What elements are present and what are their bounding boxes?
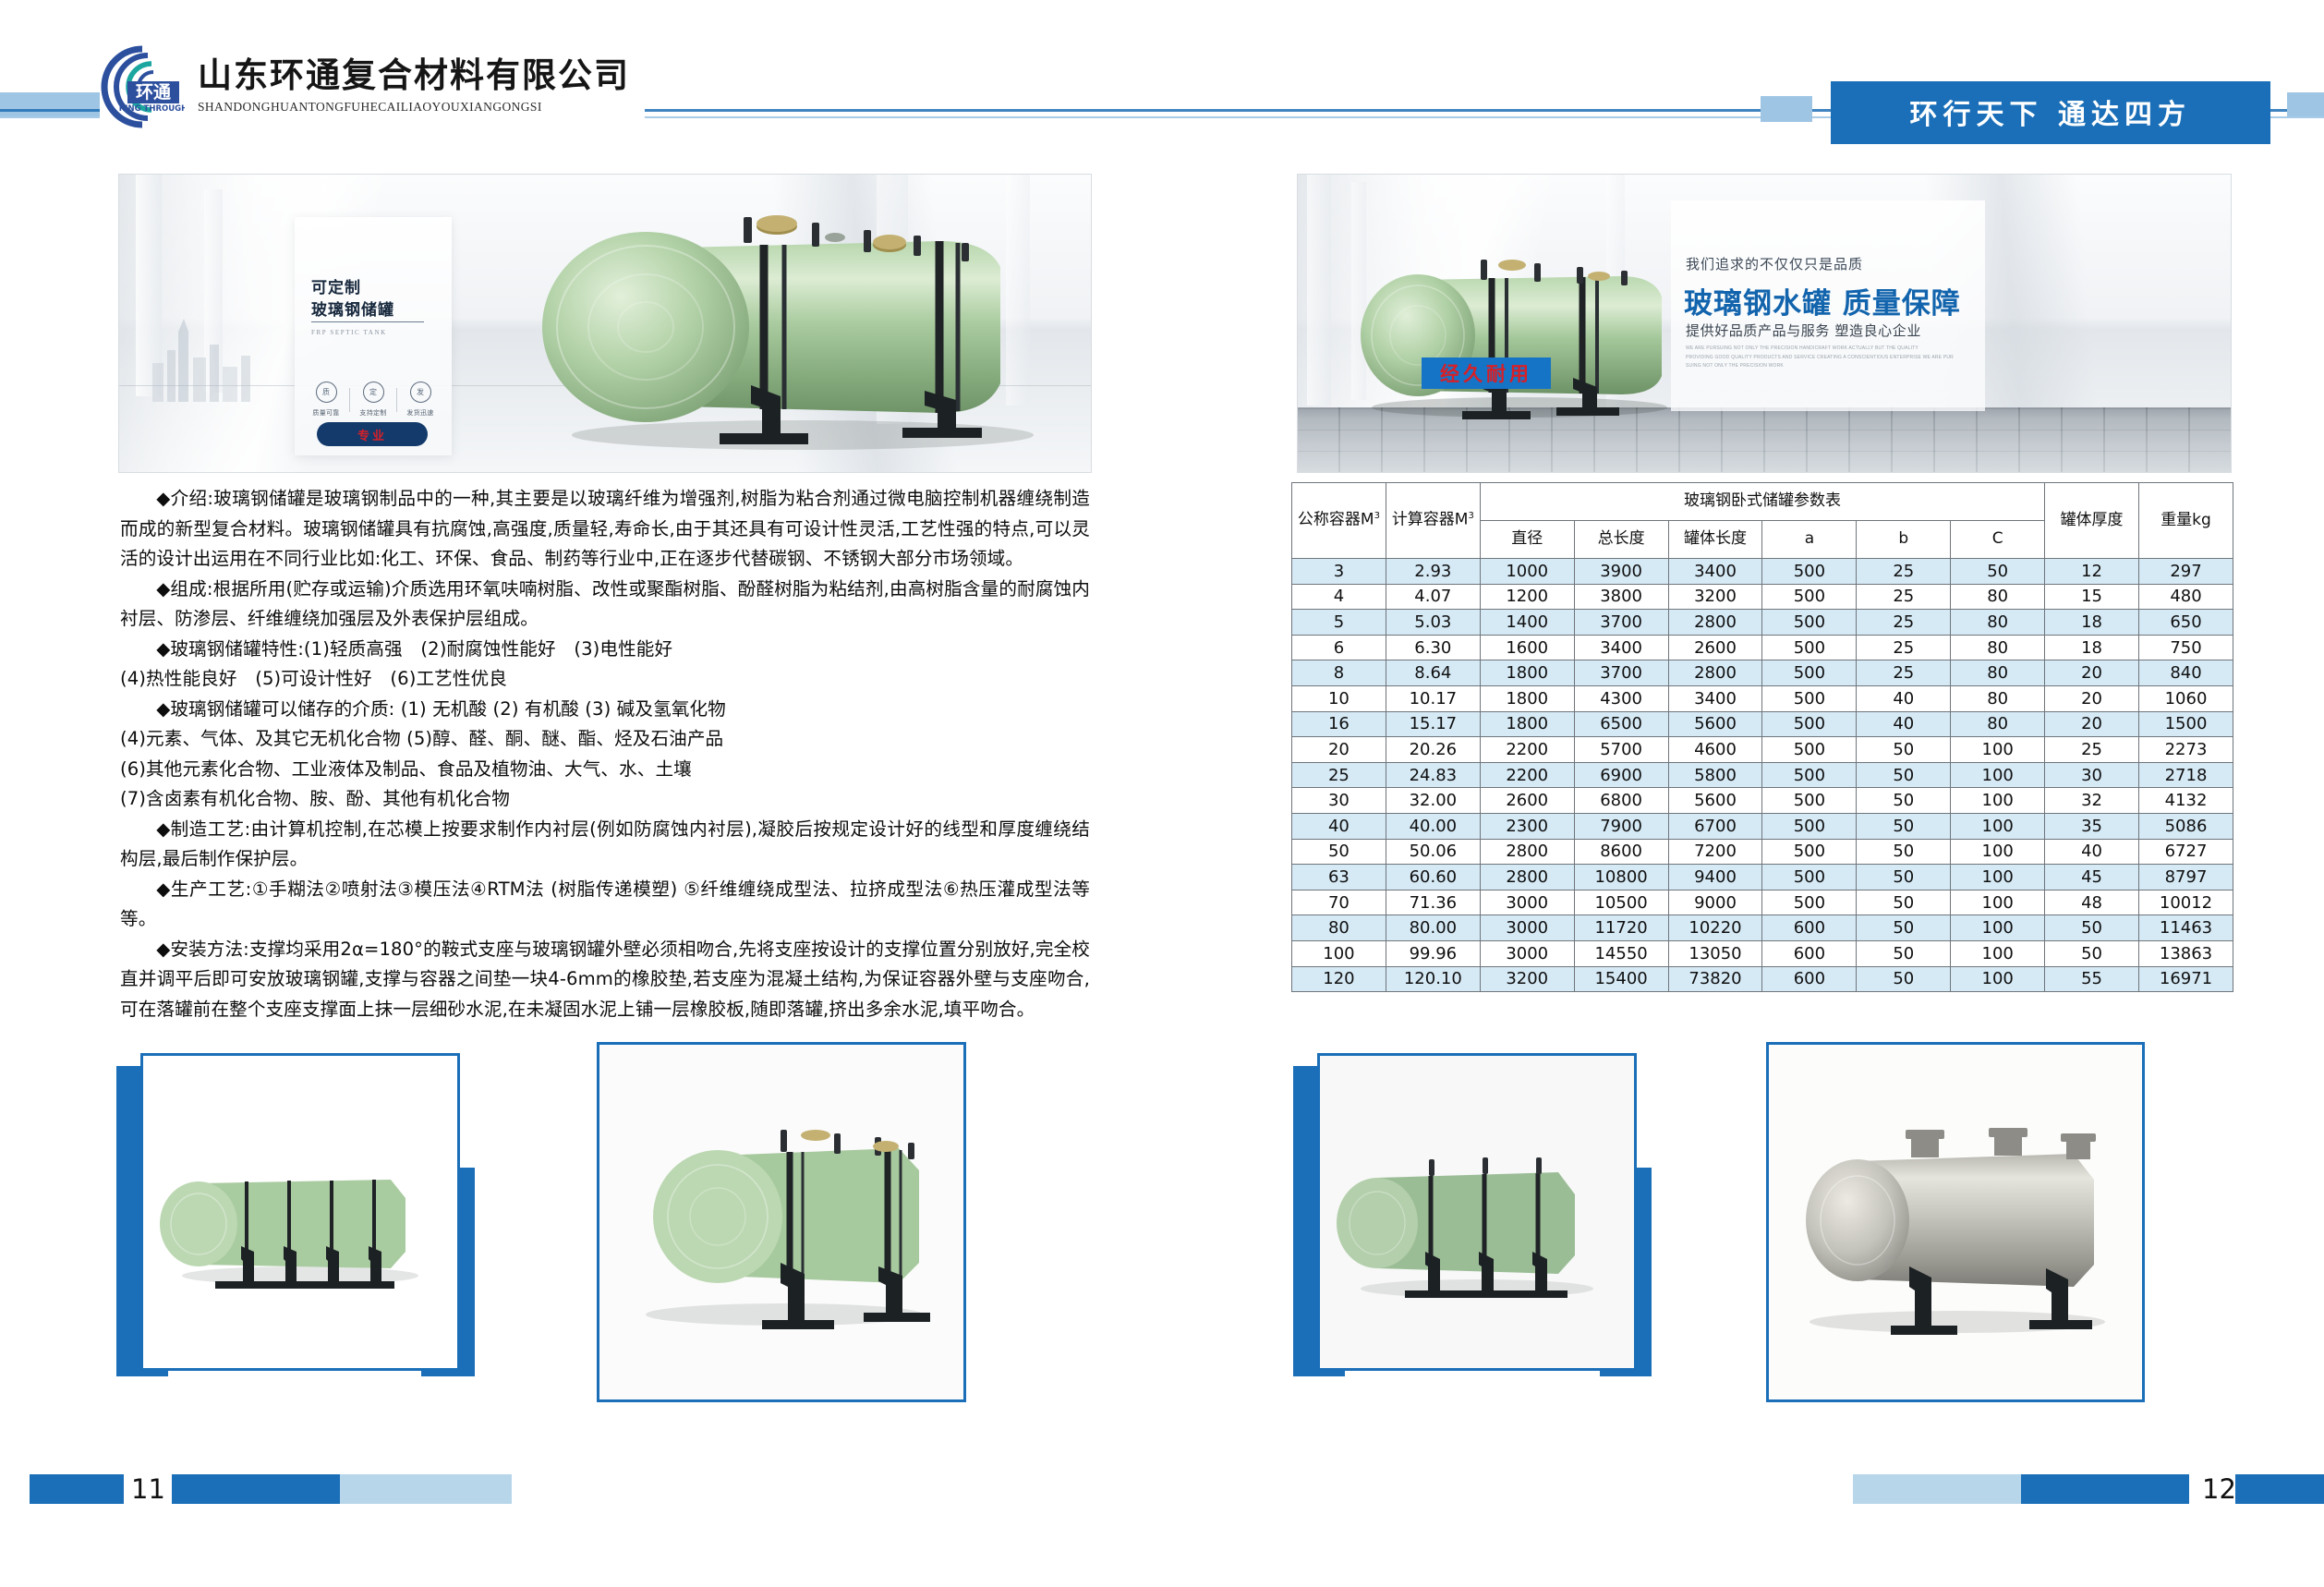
table-cell: 50.06 (1386, 839, 1480, 865)
table-cell: 500 (1762, 711, 1857, 737)
quality-icon: 质 (316, 382, 337, 403)
table-cell: 80 (1951, 635, 2045, 660)
table-row: 7071.363000105009000500501004810012 (1292, 890, 2233, 915)
table-cell: 50 (1857, 865, 1951, 890)
table-cell: 650 (2139, 610, 2233, 636)
custom-icon: 定 (363, 382, 384, 403)
table-cell: 50 (2045, 940, 2139, 966)
table-cell: 500 (1762, 610, 1857, 636)
company-logo: 环通 RING THROUGH 山东环通复合材料有限公司 SHANDONGHUA… (100, 44, 645, 129)
table-cell: 50 (1857, 762, 1951, 788)
table-cell: 4600 (1668, 737, 1762, 763)
description-paragraph: ◆组成:根据所用(贮存或运输)介质选用环氧呋喃树脂、改性或聚酯树脂、酚醛树脂为粘… (120, 575, 1090, 635)
table-row: 6360.60280010800940050050100458797 (1292, 865, 2233, 890)
table-cell: 5 (1292, 610, 1386, 636)
table-cell: 15400 (1574, 966, 1668, 992)
table-cell: 1060 (2139, 685, 2233, 711)
table-cell: 1800 (1480, 685, 1574, 711)
promo-feature-quality: 质 质量可靠 (306, 382, 346, 418)
table-cell: 2718 (2139, 762, 2233, 788)
table-cell: 100 (1951, 813, 2045, 839)
table-cell: 500 (1762, 865, 1857, 890)
table-cell: 20 (2045, 660, 2139, 686)
table-cell: 3200 (1480, 966, 1574, 992)
table-cell: 80 (1951, 685, 2045, 711)
table-cell: 70 (1292, 890, 1386, 915)
table-cell: 9000 (1668, 890, 1762, 915)
table-cell: 32 (2045, 788, 2139, 814)
table-cell: 3400 (1574, 635, 1668, 660)
logo-badge-en: RING THROUGH (119, 104, 185, 114)
table-cell: 2300 (1480, 813, 1574, 839)
table-cell: 15 (2045, 584, 2139, 610)
table-cell: 500 (1762, 788, 1857, 814)
table-cell: 3700 (1574, 610, 1668, 636)
table-cell: 1800 (1480, 711, 1574, 737)
description-paragraph: ◆制造工艺:由计算机控制,在芯模上按要求制作内衬层(例如防腐蚀内衬层),凝胶后按… (120, 815, 1090, 875)
table-cell: 2800 (1480, 865, 1574, 890)
promo-feature-label: 发货迅速 (400, 408, 441, 418)
table-cell: 50 (1857, 839, 1951, 865)
table-cell: 3200 (1668, 584, 1762, 610)
table-cell: 100 (1951, 915, 2045, 941)
table-cell: 50 (1951, 559, 2045, 585)
th-sub-C: C (1951, 521, 2045, 559)
table-cell: 60.60 (1386, 865, 1480, 890)
table-cell: 40.00 (1386, 813, 1480, 839)
table-cell: 6 (1292, 635, 1386, 660)
page-number-right: 12 (2202, 1474, 2236, 1504)
hero-image-left: 可定制 玻璃钢储罐 FRP SEPTIC TANK 质 质量可靠 定 支持定制 … (118, 174, 1092, 473)
table-cell: 6500 (1574, 711, 1668, 737)
table-cell: 2.93 (1386, 559, 1480, 585)
description-paragraph: (4)元素、气体、及其它无机化合物 (5)醇、醛、酮、醚、酯、烃及石油产品 (120, 724, 1090, 755)
table-cell: 25 (1857, 635, 1951, 660)
table-cell: 1600 (1480, 635, 1574, 660)
table-cell: 50 (1857, 813, 1951, 839)
feature-separator (396, 388, 397, 412)
table-cell: 45 (2045, 865, 2139, 890)
table-cell: 500 (1762, 890, 1857, 915)
table-cell: 500 (1762, 813, 1857, 839)
table-cell: 500 (1762, 839, 1857, 865)
table-cell: 18 (2045, 610, 2139, 636)
table-cell: 20 (2045, 711, 2139, 737)
table-cell: 55 (2045, 966, 2139, 992)
th-group-title: 玻璃钢卧式储罐参数表 (1480, 483, 2044, 521)
table-cell: 500 (1762, 660, 1857, 686)
table-row: 55.03140037002800500258018650 (1292, 610, 2233, 636)
table-cell: 5800 (1668, 762, 1762, 788)
table-cell: 3400 (1668, 685, 1762, 711)
table-cell: 40 (1292, 813, 1386, 839)
promo-feature-label: 支持定制 (353, 408, 393, 418)
ring-through-icon: 环通 RING THROUGH (100, 44, 185, 129)
table-cell: 2273 (2139, 737, 2233, 763)
tank-photo-4 (1766, 1042, 2139, 1397)
table-cell: 3 (1292, 559, 1386, 585)
table-cell: 600 (1762, 915, 1857, 941)
table-row: 8080.0030001172010220600501005011463 (1292, 915, 2233, 941)
table-cell: 3400 (1668, 559, 1762, 585)
table-cell: 500 (1762, 635, 1857, 660)
promo-feature-label: 质量可靠 (306, 408, 346, 418)
table-cell: 100 (1951, 966, 2045, 992)
page-footer: 11 12 (0, 1474, 2324, 1517)
table-cell: 50 (1857, 966, 1951, 992)
table-cell: 100 (1951, 762, 2045, 788)
promo-feature-list: 质 质量可靠 定 支持定制 发 发货迅速 (306, 382, 441, 418)
table-cell: 40 (1857, 685, 1951, 711)
table-cell: 600 (1762, 940, 1857, 966)
shipping-icon: 发 (410, 382, 431, 403)
ad-fine-print: WE ARE PURSUING NOT ONLY THE PRECISION H… (1686, 345, 1954, 371)
table-row: 10099.9630001455013050600501005013863 (1292, 940, 2233, 966)
table-cell: 100 (1951, 839, 2045, 865)
description-paragraph: ◆玻璃钢储罐可以储存的介质: (1) 无机酸 (2) 有机酸 (3) 碱及氢氧化… (120, 695, 1090, 725)
table-row: 2524.8322006900580050050100302718 (1292, 762, 2233, 788)
feature-separator (349, 388, 350, 412)
table-cell: 3000 (1480, 940, 1574, 966)
table-row: 5050.0628008600720050050100406727 (1292, 839, 2233, 865)
table-cell: 50 (1292, 839, 1386, 865)
table-cell: 100 (1951, 940, 2045, 966)
description-paragraph: ◆玻璃钢储罐特性:(1)轻质高强 (2)耐腐蚀性能好 (3)电性能好 (120, 635, 1090, 665)
table-cell: 50 (2045, 915, 2139, 941)
table-cell: 73820 (1668, 966, 1762, 992)
table-cell: 6.30 (1386, 635, 1480, 660)
table-cell: 10500 (1574, 890, 1668, 915)
brochure-spread: 环通 RING THROUGH 山东环通复合材料有限公司 SHANDONGHUA… (0, 0, 2324, 1587)
table-cell: 480 (2139, 584, 2233, 610)
table-cell: 2800 (1668, 610, 1762, 636)
skyline-icon (147, 313, 258, 402)
table-cell: 25 (1857, 559, 1951, 585)
table-cell: 297 (2139, 559, 2233, 585)
table-cell: 10.17 (1386, 685, 1480, 711)
table-row: 4040.0023007900670050050100355086 (1292, 813, 2233, 839)
promo-subtitle-en: FRP SEPTIC TANK (311, 329, 387, 336)
table-cell: 20 (2045, 685, 2139, 711)
table-cell: 80.00 (1386, 915, 1480, 941)
parameter-table-wrapper: 公称容器M3 计算容器M3 玻璃钢卧式储罐参数表 罐体厚度 重量kg 直径总长度… (1291, 482, 2233, 992)
table-cell: 4300 (1574, 685, 1668, 711)
ad-title: 玻璃钢水罐 质量保障 (1684, 280, 1961, 321)
table-cell: 25 (2045, 737, 2139, 763)
table-cell: 10012 (2139, 890, 2233, 915)
table-cell: 120.10 (1386, 966, 1480, 992)
table-cell: 500 (1762, 685, 1857, 711)
th-nominal-volume: 公称容器M3 (1292, 483, 1386, 559)
table-cell: 10 (1292, 685, 1386, 711)
promo-title-line2: 玻璃钢储罐 (311, 297, 394, 320)
table-cell: 16971 (2139, 966, 2233, 992)
table-cell: 25 (1857, 610, 1951, 636)
th-calculated-volume: 计算容器M3 (1386, 483, 1480, 559)
table-head: 公称容器M3 计算容器M3 玻璃钢卧式储罐参数表 罐体厚度 重量kg 直径总长度… (1292, 483, 2233, 559)
table-cell: 8797 (2139, 865, 2233, 890)
table-row: 1615.171800650056005004080201500 (1292, 711, 2233, 737)
table-cell: 50 (1857, 788, 1951, 814)
table-cell: 14550 (1574, 940, 1668, 966)
table-cell: 2600 (1668, 635, 1762, 660)
table-cell: 3000 (1480, 915, 1574, 941)
table-cell: 6800 (1574, 788, 1668, 814)
table-cell: 5.03 (1386, 610, 1480, 636)
promo-badge-button[interactable]: 专业 (317, 422, 428, 446)
table-cell: 80 (1951, 711, 2045, 737)
table-cell: 5600 (1668, 788, 1762, 814)
table-cell: 35 (2045, 813, 2139, 839)
company-name-block: 山东环通复合材料有限公司 SHANDONGHUANTONGFUHECAILIAO… (198, 59, 630, 115)
company-name-cn: 山东环通复合材料有限公司 (198, 59, 630, 95)
table-cell: 13863 (2139, 940, 2233, 966)
table-cell: 50 (1857, 915, 1951, 941)
table-cell: 3000 (1480, 890, 1574, 915)
table-cell: 6900 (1574, 762, 1668, 788)
tank-photo-3 (1293, 1053, 1681, 1387)
table-cell: 750 (2139, 635, 2233, 660)
slogan-shade (1761, 96, 1812, 122)
table-cell: 24.83 (1386, 762, 1480, 788)
description-paragraph: (4)热性能良好 (5)可设计性好 (6)工艺性优良 (120, 664, 1090, 695)
company-name-pinyin: SHANDONGHUANTONGFUHECAILIAOYOUXIANGONGSI (198, 100, 630, 115)
table-cell: 100 (1292, 940, 1386, 966)
storage-tank-illustration (507, 200, 1071, 457)
header-tab-right (2287, 92, 2324, 116)
table-cell: 2800 (1480, 839, 1574, 865)
table-row: 2020.2622005700460050050100252273 (1292, 737, 2233, 763)
table-cell: 99.96 (1386, 940, 1480, 966)
tank-photo-1 (116, 1053, 504, 1387)
table-row: 88.64180037002800500258020840 (1292, 660, 2233, 686)
table-cell: 1500 (2139, 711, 2233, 737)
table-cell: 8 (1292, 660, 1386, 686)
table-cell: 25 (1857, 660, 1951, 686)
description-paragraph: (7)含卤素有机化合物、胺、酚、其他有机化合物 (120, 784, 1090, 815)
table-cell: 50 (1857, 940, 1951, 966)
table-cell: 1200 (1480, 584, 1574, 610)
table-cell: 32.00 (1386, 788, 1480, 814)
table-cell: 1000 (1480, 559, 1574, 585)
table-cell: 9400 (1668, 865, 1762, 890)
table-cell: 30 (2045, 762, 2139, 788)
table-cell: 40 (2045, 839, 2139, 865)
ad-card-right: 我们追求的不仅仅只是品质 玻璃钢水罐 质量保障 提供好品质产品与服务 塑造良心企… (1671, 200, 1985, 411)
ad-badge-durable: 经久耐用 (1422, 357, 1551, 389)
table-cell: 71.36 (1386, 890, 1480, 915)
table-cell: 8.64 (1386, 660, 1480, 686)
table-row: 3032.0026006800560050050100324132 (1292, 788, 2233, 814)
table-cell: 100 (1951, 737, 2045, 763)
table-cell: 6727 (2139, 839, 2233, 865)
table-cell: 18 (2045, 635, 2139, 660)
table-cell: 7200 (1668, 839, 1762, 865)
table-cell: 40 (1857, 711, 1951, 737)
description-paragraph: ◆介绍:玻璃钢储罐是玻璃钢制品中的一种,其主要是以玻璃纤维为增强剂,树脂为粘合剂… (120, 484, 1090, 575)
ad-fine-print-line2: PROVIDING GOOD QUALITY PRODUCTS AND SERV… (1686, 354, 1954, 371)
table-cell: 63 (1292, 865, 1386, 890)
table-cell: 48 (2045, 890, 2139, 915)
promo-feature-custom: 定 支持定制 (353, 382, 393, 418)
table-cell: 4 (1292, 584, 1386, 610)
table-cell: 5700 (1574, 737, 1668, 763)
table-cell: 1400 (1480, 610, 1574, 636)
table-cell: 25 (1292, 762, 1386, 788)
tank-photo-2 (597, 1042, 961, 1397)
table-cell: 1800 (1480, 660, 1574, 686)
promo-feature-shipping: 发 发货迅速 (400, 382, 441, 418)
promo-divider (311, 321, 424, 322)
table-cell: 3800 (1574, 584, 1668, 610)
product-description: ◆介绍:玻璃钢储罐是玻璃钢制品中的一种,其主要是以玻璃纤维为增强剂,树脂为粘合剂… (120, 484, 1090, 1024)
promo-title-line1: 可定制 (311, 274, 361, 297)
promo-card-left: 可定制 玻璃钢储罐 FRP SEPTIC TANK 质 质量可靠 定 支持定制 … (295, 217, 452, 455)
th-sub-a: a (1762, 521, 1857, 559)
table-cell: 100 (1951, 788, 2045, 814)
table-body: 32.9310003900340050025501229744.07120038… (1292, 559, 2233, 992)
table-cell: 4132 (2139, 788, 2233, 814)
table-cell: 80 (1951, 584, 2045, 610)
page-header: 环通 RING THROUGH 山东环通复合材料有限公司 SHANDONGHUA… (0, 0, 2324, 157)
table-cell: 100 (1951, 865, 2045, 890)
hero-image-right: 我们追求的不仅仅只是品质 玻璃钢水罐 质量保障 提供好品质产品与服务 塑造良心企… (1297, 174, 2232, 473)
table-cell: 2200 (1480, 762, 1574, 788)
table-cell: 11720 (1574, 915, 1668, 941)
ad-subtitle-bottom: 提供好品质产品与服务 塑造良心企业 (1686, 321, 1921, 340)
table-row: 44.07120038003200500258015480 (1292, 584, 2233, 610)
table-cell: 4.07 (1386, 584, 1480, 610)
th-sub-总长度: 总长度 (1574, 521, 1668, 559)
th-sub-罐体长度: 罐体长度 (1668, 521, 1762, 559)
table-cell: 25 (1857, 584, 1951, 610)
table-cell: 8600 (1574, 839, 1668, 865)
table-row: 66.30160034002600500258018750 (1292, 635, 2233, 660)
table-cell: 840 (2139, 660, 2233, 686)
storage-tank-illustration (1344, 247, 1688, 431)
description-paragraph: ◆生产工艺:①手糊法②喷射法③模压法④RTM法 (树脂传递模塑) ⑤纤维缠绕成型… (120, 875, 1090, 935)
table-cell: 500 (1762, 737, 1857, 763)
table-cell: 80 (1951, 660, 2045, 686)
table-cell: 50 (1857, 737, 1951, 763)
table-cell: 16 (1292, 711, 1386, 737)
table-cell: 80 (1951, 610, 2045, 636)
th-sub-b: b (1857, 521, 1951, 559)
ad-subtitle-top: 我们追求的不仅仅只是品质 (1686, 254, 1863, 273)
table-cell: 5086 (2139, 813, 2233, 839)
table-cell: 80 (1292, 915, 1386, 941)
logo-badge-cn: 环通 (136, 82, 172, 103)
table-cell: 2800 (1668, 660, 1762, 686)
th-shell-thickness: 罐体厚度 (2045, 483, 2139, 559)
table-row: 32.93100039003400500255012297 (1292, 559, 2233, 585)
table-cell: 12 (2045, 559, 2139, 585)
table-cell: 13050 (1668, 940, 1762, 966)
table-cell: 500 (1762, 762, 1857, 788)
table-cell: 6700 (1668, 813, 1762, 839)
th-weight: 重量kg (2139, 483, 2233, 559)
table-cell: 50 (1857, 890, 1951, 915)
ad-fine-print-line1: WE ARE PURSUING NOT ONLY THE PRECISION H… (1686, 345, 1954, 354)
table-cell: 7900 (1574, 813, 1668, 839)
table-cell: 20.26 (1386, 737, 1480, 763)
table-cell: 500 (1762, 584, 1857, 610)
table-cell: 2600 (1480, 788, 1574, 814)
header-slogan: 环行天下 通达四方 (1831, 81, 2270, 144)
table-cell: 10800 (1574, 865, 1668, 890)
table-cell: 600 (1762, 966, 1857, 992)
th-sub-直径: 直径 (1480, 521, 1574, 559)
table-row: 1010.171800430034005004080201060 (1292, 685, 2233, 711)
table-cell: 3700 (1574, 660, 1668, 686)
table-cell: 20 (1292, 737, 1386, 763)
table-header-row-1: 公称容器M3 计算容器M3 玻璃钢卧式储罐参数表 罐体厚度 重量kg (1292, 483, 2233, 521)
table-cell: 500 (1762, 559, 1857, 585)
table-row: 120120.1032001540073820600501005516971 (1292, 966, 2233, 992)
page-number-left: 11 (131, 1474, 165, 1504)
table-cell: 120 (1292, 966, 1386, 992)
description-paragraph: ◆安装方法:支撑均采用2α=180°的鞍式支座与玻璃钢罐外壁必须相吻合,先将支座… (120, 935, 1090, 1025)
table-cell: 11463 (2139, 915, 2233, 941)
table-cell: 10220 (1668, 915, 1762, 941)
parameter-table: 公称容器M3 计算容器M3 玻璃钢卧式储罐参数表 罐体厚度 重量kg 直径总长度… (1291, 482, 2233, 992)
table-cell: 3900 (1574, 559, 1668, 585)
table-cell: 2200 (1480, 737, 1574, 763)
table-cell: 30 (1292, 788, 1386, 814)
table-cell: 5600 (1668, 711, 1762, 737)
header-tab-left (0, 92, 111, 116)
description-paragraph: (6)其他元素化合物、工业液体及制品、食品及植物油、大气、水、土壤 (120, 755, 1090, 785)
table-cell: 15.17 (1386, 711, 1480, 737)
table-cell: 100 (1951, 890, 2045, 915)
